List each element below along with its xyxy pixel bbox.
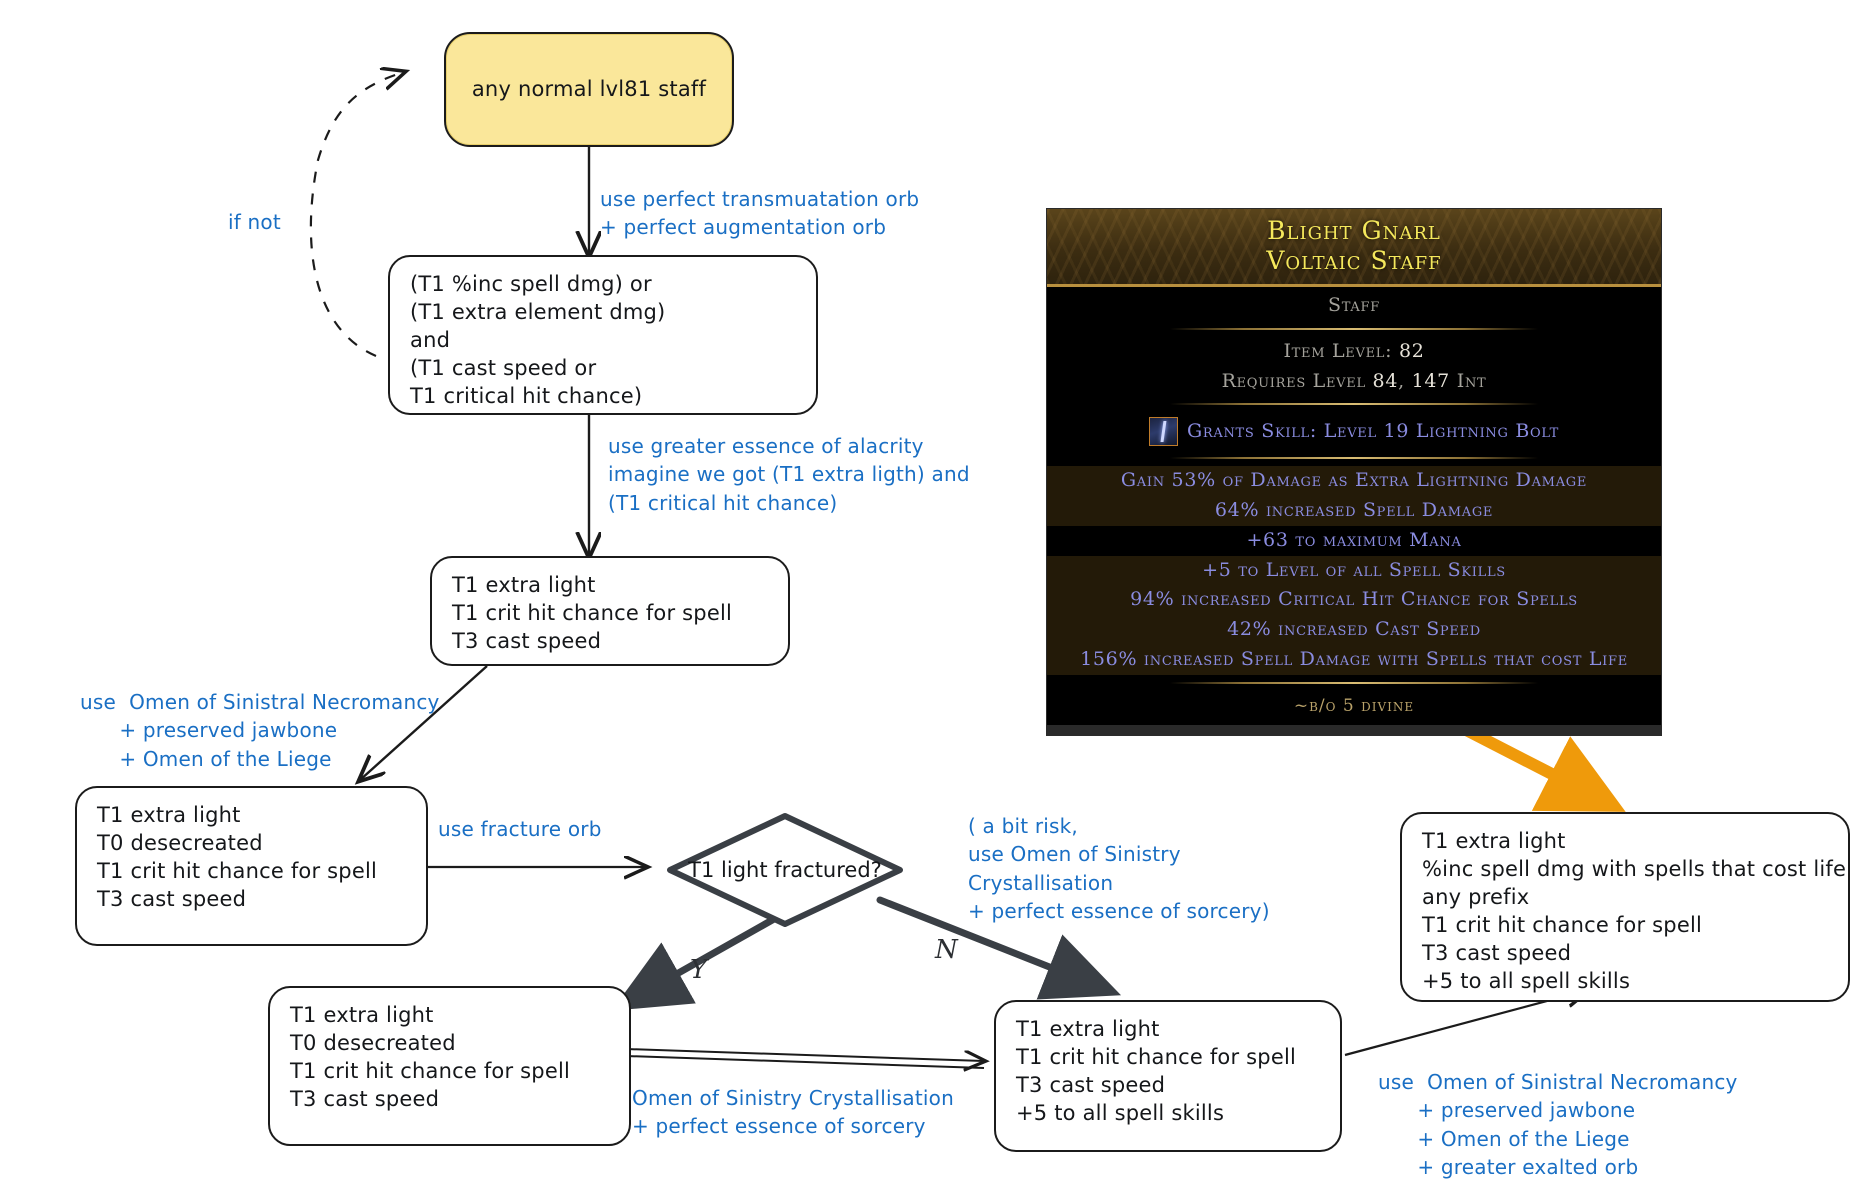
node-line: T1 extra light — [1422, 828, 1828, 856]
node-fracture-yes[interactable]: T1 extra light T0 desecreated T1 crit hi… — [268, 986, 631, 1146]
item-mod: Gain 53% of Damage as Extra Lightning Da… — [1047, 466, 1661, 496]
node-line: T1 crit hit chance for spell — [290, 1058, 609, 1086]
tooltip-header: Blight Gnarl Voltaic Staff — [1047, 209, 1661, 287]
tooltip-separator — [1170, 403, 1538, 405]
node-start[interactable]: any normal lvl81 staff — [444, 32, 734, 147]
annotation-if-not: if not — [228, 208, 281, 236]
node-line: (T1 extra element dmg) — [410, 299, 796, 327]
node-line: T1 crit hit chance for spell — [97, 858, 406, 886]
node-line: and — [410, 327, 796, 355]
node-line: T1 extra light — [290, 1002, 609, 1030]
item-tooltip: Blight Gnarl Voltaic Staff Staff Item Le… — [1046, 208, 1662, 736]
item-mod: 156% increased Spell Damage with Spells … — [1047, 645, 1661, 675]
flowchart-canvas: any normal lvl81 staff (T1 %inc spell dm… — [0, 0, 1864, 1180]
tooltip-separator — [1170, 682, 1538, 684]
node-after-alacrity[interactable]: T1 extra light T1 crit hit chance for sp… — [430, 556, 790, 666]
node-line: (T1 %inc spell dmg) or — [410, 271, 796, 299]
node-final[interactable]: T1 extra light %inc spell dmg with spell… — [1400, 812, 1850, 1002]
requires-int-label: Int — [1457, 370, 1487, 392]
node-after-omen-left[interactable]: T1 extra light T0 desecreated T1 crit hi… — [75, 786, 428, 946]
node-line: any prefix — [1422, 884, 1828, 912]
granted-skill-text: Grants Skill: Level 19 Lightning Bolt — [1187, 420, 1559, 444]
tooltip-bottom-bar — [1047, 725, 1661, 735]
node-line: T3 cast speed — [452, 628, 768, 656]
tooltip-body: Staff Item Level: 82 Requires Level 84, … — [1047, 287, 1661, 725]
node-line: T1 crit hit chance for spell — [1422, 912, 1828, 940]
annotation-fracture-orb: use fracture orb — [438, 815, 602, 843]
node-start-text: any normal lvl81 staff — [472, 76, 706, 104]
item-requirements-row: Requires Level 84, 147 Int — [1047, 367, 1661, 397]
node-line: T0 desecreated — [97, 830, 406, 858]
node-spell-skills[interactable]: T1 extra light T1 crit hit chance for sp… — [994, 1000, 1342, 1152]
node-line: T3 cast speed — [1422, 940, 1828, 968]
annotation-omen-right: use Omen of Sinistral Necromancy + prese… — [1378, 1068, 1738, 1180]
wire-yesbox-to-spellskills — [626, 1049, 984, 1068]
item-mod: 42% increased Cast Speed — [1047, 615, 1661, 645]
requires-prefix: Requires Level — [1222, 370, 1366, 392]
item-base-type: Staff — [1047, 291, 1661, 321]
requires-level-value: 84 — [1373, 370, 1399, 392]
item-mod: 64% increased Spell Damage — [1047, 496, 1661, 526]
item-level-label: Item Level: — [1283, 340, 1392, 362]
node-line: T1 crit hit chance for spell — [452, 600, 768, 628]
item-price-note: ~b/o 5 divine — [1047, 691, 1661, 725]
annotation-bottom-crystallisation: Omen of Sinistry Crystallisation + perfe… — [632, 1084, 954, 1141]
node-line: T1 crit hit chance for spell — [1016, 1044, 1320, 1072]
node-line: %inc spell dmg with spells that cost lif… — [1422, 856, 1828, 884]
node-line: +5 to all spell skills — [1422, 968, 1828, 996]
item-mod: +5 to Level of all Spell Skills — [1047, 556, 1661, 586]
item-name-line1: Blight Gnarl — [1047, 216, 1661, 246]
item-mod: +63 to maximum Mana — [1047, 526, 1661, 556]
annotation-alacrity: use greater essence of alacrity imagine … — [608, 432, 970, 517]
annotation-transmute: use perfect transmuatation orb + perfect… — [600, 185, 919, 242]
node-line: T3 cast speed — [1016, 1072, 1320, 1100]
item-level-row: Item Level: 82 — [1047, 337, 1661, 367]
annotation-risk-branch: ( a bit risk, use Omen of Sinistry Cryst… — [968, 812, 1270, 926]
item-name-line2: Voltaic Staff — [1047, 246, 1661, 276]
annotation-omen-left: use Omen of Sinistral Necromancy + prese… — [80, 688, 440, 773]
node-line: T3 cast speed — [290, 1086, 609, 1114]
node-line: T1 critical hit chance) — [410, 383, 796, 411]
node-line: T3 cast speed — [97, 886, 406, 914]
decision-no-label: N — [935, 935, 958, 965]
decision-diamond[interactable]: T1 light fractured? — [640, 810, 930, 930]
node-line: (T1 cast speed or — [410, 355, 796, 383]
item-mod: 94% increased Critical Hit Chance for Sp… — [1047, 585, 1661, 615]
decision-label: T1 light fractured? — [640, 810, 930, 930]
node-requirements[interactable]: (T1 %inc spell dmg) or (T1 extra element… — [388, 255, 818, 415]
tooltip-separator — [1170, 328, 1538, 330]
node-line: +5 to all spell skills — [1016, 1100, 1320, 1128]
node-line: T1 extra light — [97, 802, 406, 830]
node-line: T0 desecreated — [290, 1030, 609, 1058]
node-line: T1 extra light — [452, 572, 768, 600]
decision-yes-label: Y — [690, 955, 707, 985]
node-line: T1 extra light — [1016, 1016, 1320, 1044]
requires-int-value: 147 — [1412, 370, 1450, 392]
granted-skill-row: Grants Skill: Level 19 Lightning Bolt — [1047, 412, 1661, 450]
lightning-bolt-icon — [1149, 417, 1178, 446]
tooltip-separator — [1170, 457, 1538, 459]
item-level-value: 82 — [1399, 340, 1425, 362]
